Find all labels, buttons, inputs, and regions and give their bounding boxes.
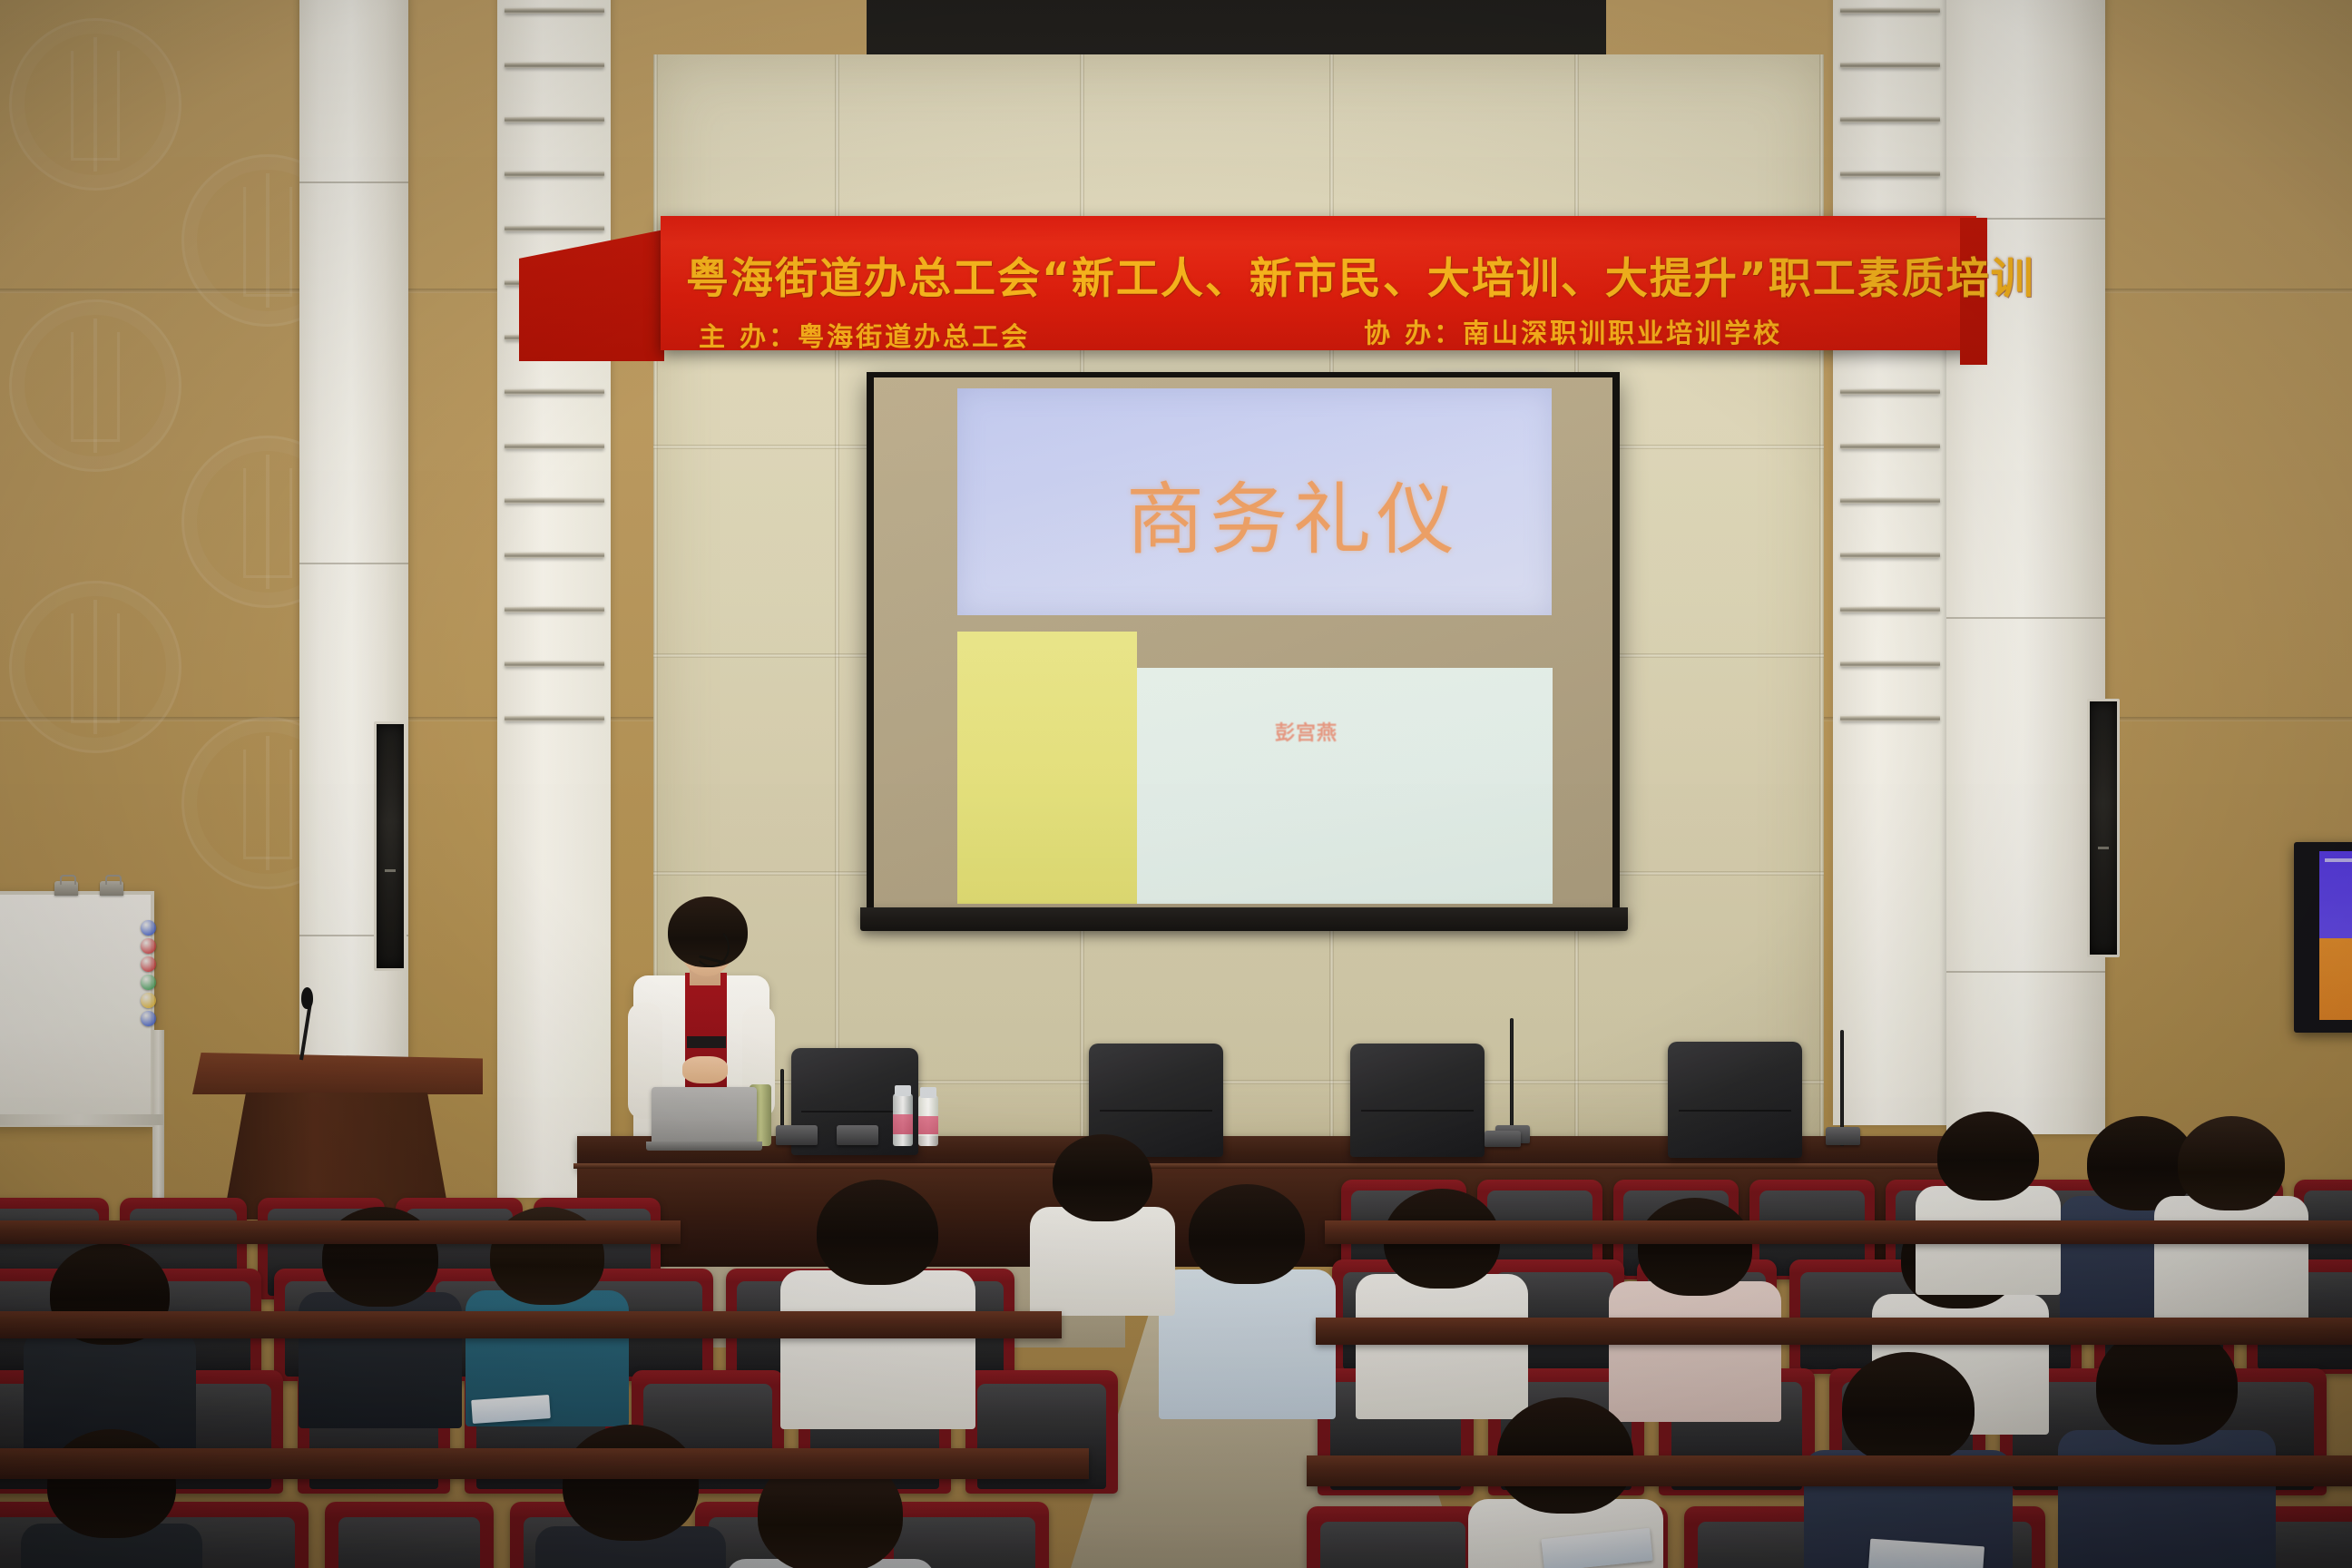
flipchart-magnet[interactable] (141, 956, 156, 972)
seat-cushion (1320, 1522, 1465, 1568)
table-name-plate (776, 1125, 818, 1145)
flipchart-magnet[interactable] (141, 938, 156, 954)
pilaster-left-slatted (497, 0, 611, 1198)
audience-person-head (1189, 1184, 1305, 1284)
pilaster-right-slatted (1833, 0, 1946, 1125)
column-right (1946, 0, 2105, 1134)
audience-person-head (1638, 1198, 1752, 1296)
audience-person-body (780, 1270, 975, 1429)
seat-cushion (2264, 1522, 2352, 1568)
presenter-hands (682, 1056, 728, 1083)
screen-bottom-bar (860, 907, 1628, 931)
projection-screen: 商务礼仪 彭宫燕 (867, 372, 1620, 915)
column-left (299, 0, 408, 1189)
bottle-label (893, 1114, 913, 1134)
bottle-cap (895, 1085, 911, 1096)
banner-title-text: 粤海街道办总工会“新工人、新市民、大培训、大提升”职工素质培训 (686, 243, 2035, 306)
audience-desk-row (0, 1220, 681, 1244)
wall-speaker-left (374, 721, 407, 971)
flipchart-magnet[interactable] (141, 993, 156, 1008)
audience-person-body (1609, 1281, 1781, 1422)
slide-title-text: 商务礼仪 (1126, 456, 1460, 569)
audience-seat[interactable] (325, 1502, 494, 1568)
banner-organizer-text: 主 办：粤海街道办总工会 (699, 316, 1030, 354)
audience-person-body (2154, 1196, 2308, 1323)
audience-seat[interactable] (1307, 1506, 1479, 1568)
flipchart-magnet[interactable] (141, 975, 156, 990)
wall-speaker-right (2087, 699, 2120, 957)
bottle-cap (920, 1087, 936, 1098)
wall-emblem (9, 18, 181, 191)
table-name-plate (1485, 1131, 1521, 1147)
wall-emblem (9, 581, 181, 753)
bottle-label (918, 1116, 938, 1134)
audience-person-head (1937, 1112, 2039, 1200)
banner-coorganizer-text: 协 办：南山深职训职业培训学校 (1364, 312, 1782, 350)
audience-person-body (1030, 1207, 1175, 1316)
flipchart-magnet[interactable] (141, 920, 156, 936)
audience-desk-row (1307, 1455, 2352, 1486)
audience-person-body (1159, 1269, 1336, 1419)
wall-monitor[interactable] (2294, 842, 2352, 1033)
audience-desk-row (0, 1311, 1062, 1338)
flipchart-clip[interactable] (54, 881, 78, 896)
audience-desk-row (0, 1448, 1089, 1479)
audience-person-head (47, 1429, 176, 1538)
wall-emblem (9, 299, 181, 472)
slide-presenter-name: 彭宫燕 (1275, 717, 1338, 746)
stage-chair[interactable] (1350, 1044, 1485, 1157)
audience-desk-row (1316, 1318, 2352, 1345)
audience-desk-row (1325, 1220, 2352, 1244)
flipchart-whiteboard[interactable] (0, 891, 154, 1127)
conference-hall-photo: 粤海街道办总工会“新工人、新市民、大培训、大提升”职工素质培训 主 办：粤海街道… (0, 0, 2352, 1568)
table-mic-base (1826, 1127, 1860, 1145)
slide-title-panel: 商务礼仪 (957, 388, 1552, 615)
audience-person-head (1842, 1352, 1975, 1465)
laptop-screen[interactable] (652, 1087, 757, 1143)
laptop-base[interactable] (646, 1142, 762, 1151)
audience-person-body (1356, 1274, 1528, 1419)
audience-person-head (1053, 1134, 1152, 1221)
screen-surface: 商务礼仪 彭宫燕 (874, 377, 1612, 909)
slide-body-panel: 彭宫燕 (1137, 668, 1553, 904)
flipchart-magnet[interactable] (141, 1011, 156, 1026)
flipchart-clip[interactable] (100, 881, 123, 896)
slide-accent-block (957, 632, 1137, 904)
podium-top (192, 1053, 483, 1094)
audience-person-body (2058, 1430, 2276, 1568)
audience-person-head (563, 1425, 699, 1541)
presenter-belt (687, 1036, 726, 1048)
flipchart-tray (0, 1114, 163, 1125)
seat-cushion (338, 1517, 480, 1568)
audience-person-head (2178, 1116, 2285, 1210)
stage-chair[interactable] (1668, 1042, 1802, 1158)
audience-person-head (817, 1180, 938, 1285)
podium-mic-head[interactable] (301, 987, 313, 1009)
table-name-plate (837, 1125, 878, 1145)
